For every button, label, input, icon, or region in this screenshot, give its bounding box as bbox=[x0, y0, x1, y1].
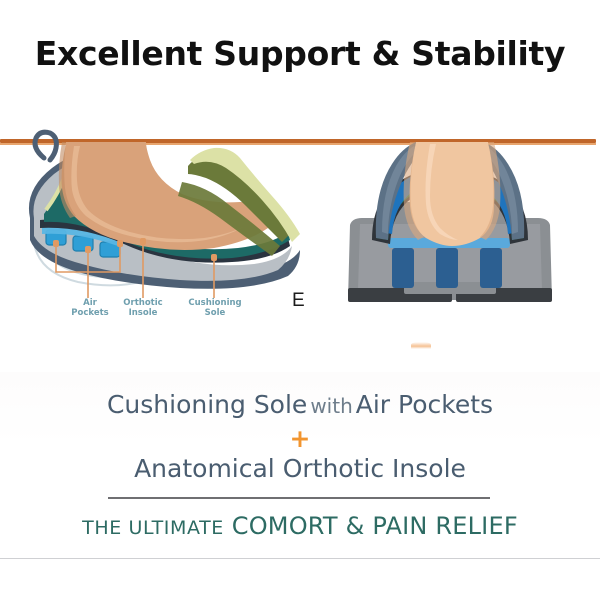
promo-card: Excellent Support & Stability bbox=[0, 0, 600, 600]
benefit-sole-tail: Air Pockets bbox=[356, 390, 493, 419]
air-pocket-icon bbox=[480, 248, 502, 288]
benefit-sole-conjunction: with bbox=[307, 394, 355, 418]
benefit-ultimate-small: THE ULTIMATE bbox=[82, 517, 224, 539]
benefits-block: Cushioning SolewithAir Pockets + Anatomi… bbox=[0, 372, 600, 558]
page-title: Excellent Support & Stability bbox=[0, 34, 600, 73]
benefit-line-ultimate: THE ULTIMATE COMORT & PAIN RELIEF bbox=[0, 512, 600, 540]
benefit-ultimate-spacer bbox=[224, 512, 232, 540]
product-illustration: Air Pockets Orthotic Insole Cushioning S… bbox=[0, 120, 600, 370]
bottom-divider bbox=[0, 558, 600, 559]
benefit-sole-lead: Cushioning Sole bbox=[107, 390, 307, 419]
rear-air-pocket-columns bbox=[392, 248, 502, 288]
rear-heel-skin bbox=[410, 142, 495, 246]
divider-rule bbox=[108, 497, 490, 499]
benefit-line-orthotic-insole: Anatomical Orthotic Insole bbox=[0, 454, 600, 483]
plus-separator-icon: + bbox=[0, 426, 600, 451]
benefit-ultimate-big: COMORT & PAIN RELIEF bbox=[232, 512, 518, 540]
shoe-cross-section-rear-view bbox=[0, 120, 600, 370]
benefit-line-cushioning-sole: Cushioning SolewithAir Pockets bbox=[0, 390, 600, 419]
air-pocket-icon bbox=[392, 248, 414, 288]
air-pocket-icon bbox=[436, 248, 458, 288]
